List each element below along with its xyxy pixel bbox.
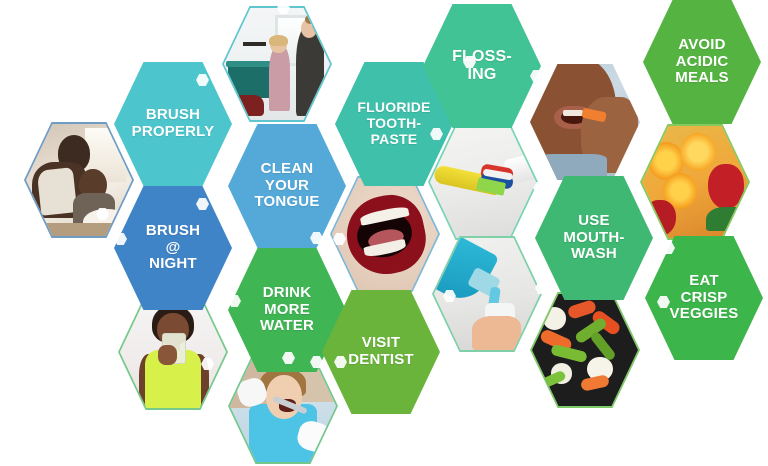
hex-tile-clean-your-tongue[interactable]: CLEAN YOUR TONGUE [228,124,346,248]
photo-scene-photo-woman-drinking-water [120,296,226,408]
hex-corner-accent [229,12,242,24]
hex-corner-accent [752,122,765,134]
hex-label-eat-crisp-veggies: EAT CRISP VEGGIES [662,273,747,323]
hex-photo-photo-mixed-veggies [532,294,638,406]
hex-corner-accent [637,104,650,116]
scene-part-r4 [580,374,610,392]
hex-label-drink-more-water: DRINK MORE WATER [252,285,322,335]
hex-photo-photo-mother-child-bathroom [224,8,330,120]
hex-photo-photo-child-flossing [530,64,640,180]
hex-photo-photo-father-son-brushing [26,124,132,236]
hex-label-use-mouthwash: USE MOUTH- WASH [555,213,632,263]
photo-scene-photo-mother-child-bathroom [224,8,330,120]
photo-scene-photo-open-mouth-lips [332,178,438,290]
scene-part-handw [158,345,177,365]
hex-label-brush-properly: BRUSH PROPERLY [124,107,223,141]
photo-scene-photo-citrus-strawberries [642,126,748,238]
scene-part-tank [36,167,77,215]
hex-label-avoid-acidic-meals: AVOID ACIDIC MEALS [667,37,737,87]
photo-scene-photo-child-flossing [530,64,640,180]
hex-tile-photo-open-mouth-lips[interactable] [330,176,440,292]
hex-tile-photo-citrus-strawberries[interactable] [640,124,750,240]
scene-part-o2 [680,133,716,171]
hex-tile-photo-woman-drinking-water[interactable] [118,294,228,410]
hex-corner-accent [641,130,654,142]
hex-tile-use-mouthwash[interactable]: USE MOUTH- WASH [535,176,653,300]
scene-part-hair [269,35,288,46]
photo-scene-photo-mixed-veggies [532,294,638,406]
infographic-canvas: BRUSH PROPERLYCLEAN YOUR TONGUEBRUSH @ N… [0,0,768,466]
hex-label-brush-at-night: BRUSH @ NIGHT [138,223,208,273]
hex-photo-photo-open-mouth-lips [332,178,438,290]
scene-part-mom [296,26,324,116]
hex-label-clean-your-tongue: CLEAN YOUR TONGUE [246,161,327,211]
scene-part-st1 [708,164,744,209]
scene-part-kidhead [266,375,302,420]
scene-part-leaf [706,207,742,232]
scene-part-kid [269,46,290,111]
hex-tile-brush-at-night[interactable]: BRUSH @ NIGHT [114,186,232,310]
scene-part-c1 [543,307,566,329]
hex-label-flossing: FLOSS- ING [444,48,520,84]
hex-tile-photo-father-son-brushing[interactable] [24,122,134,238]
hex-tile-photo-child-flossing[interactable] [528,62,642,182]
scene-part-shelf [243,42,266,46]
hex-label-fluoride-toothpaste: FLUORIDE TOOTH- PASTE [349,100,438,147]
scene-part-bag [235,95,265,115]
photo-scene-photo-toothbrush-paste [430,126,536,238]
scene-part-counter [26,223,132,236]
scene-part-fingers [472,316,521,350]
hex-label-visit-dentist: VISIT DENTIST [340,335,422,369]
photo-scene-photo-father-son-brushing [26,124,132,236]
hex-photo-photo-citrus-strawberries [642,126,748,238]
scene-part-teeth [563,110,583,116]
hex-tile-photo-mixed-veggies[interactable] [530,292,640,408]
hex-photo-photo-woman-drinking-water [120,296,226,408]
hex-tile-brush-properly[interactable]: BRUSH PROPERLY [114,62,232,186]
hex-photo-photo-toothbrush-paste [430,126,536,238]
hex-tile-avoid-acidic-meals[interactable]: AVOID ACIDIC MEALS [643,0,761,124]
scene-part-bun [305,15,317,24]
